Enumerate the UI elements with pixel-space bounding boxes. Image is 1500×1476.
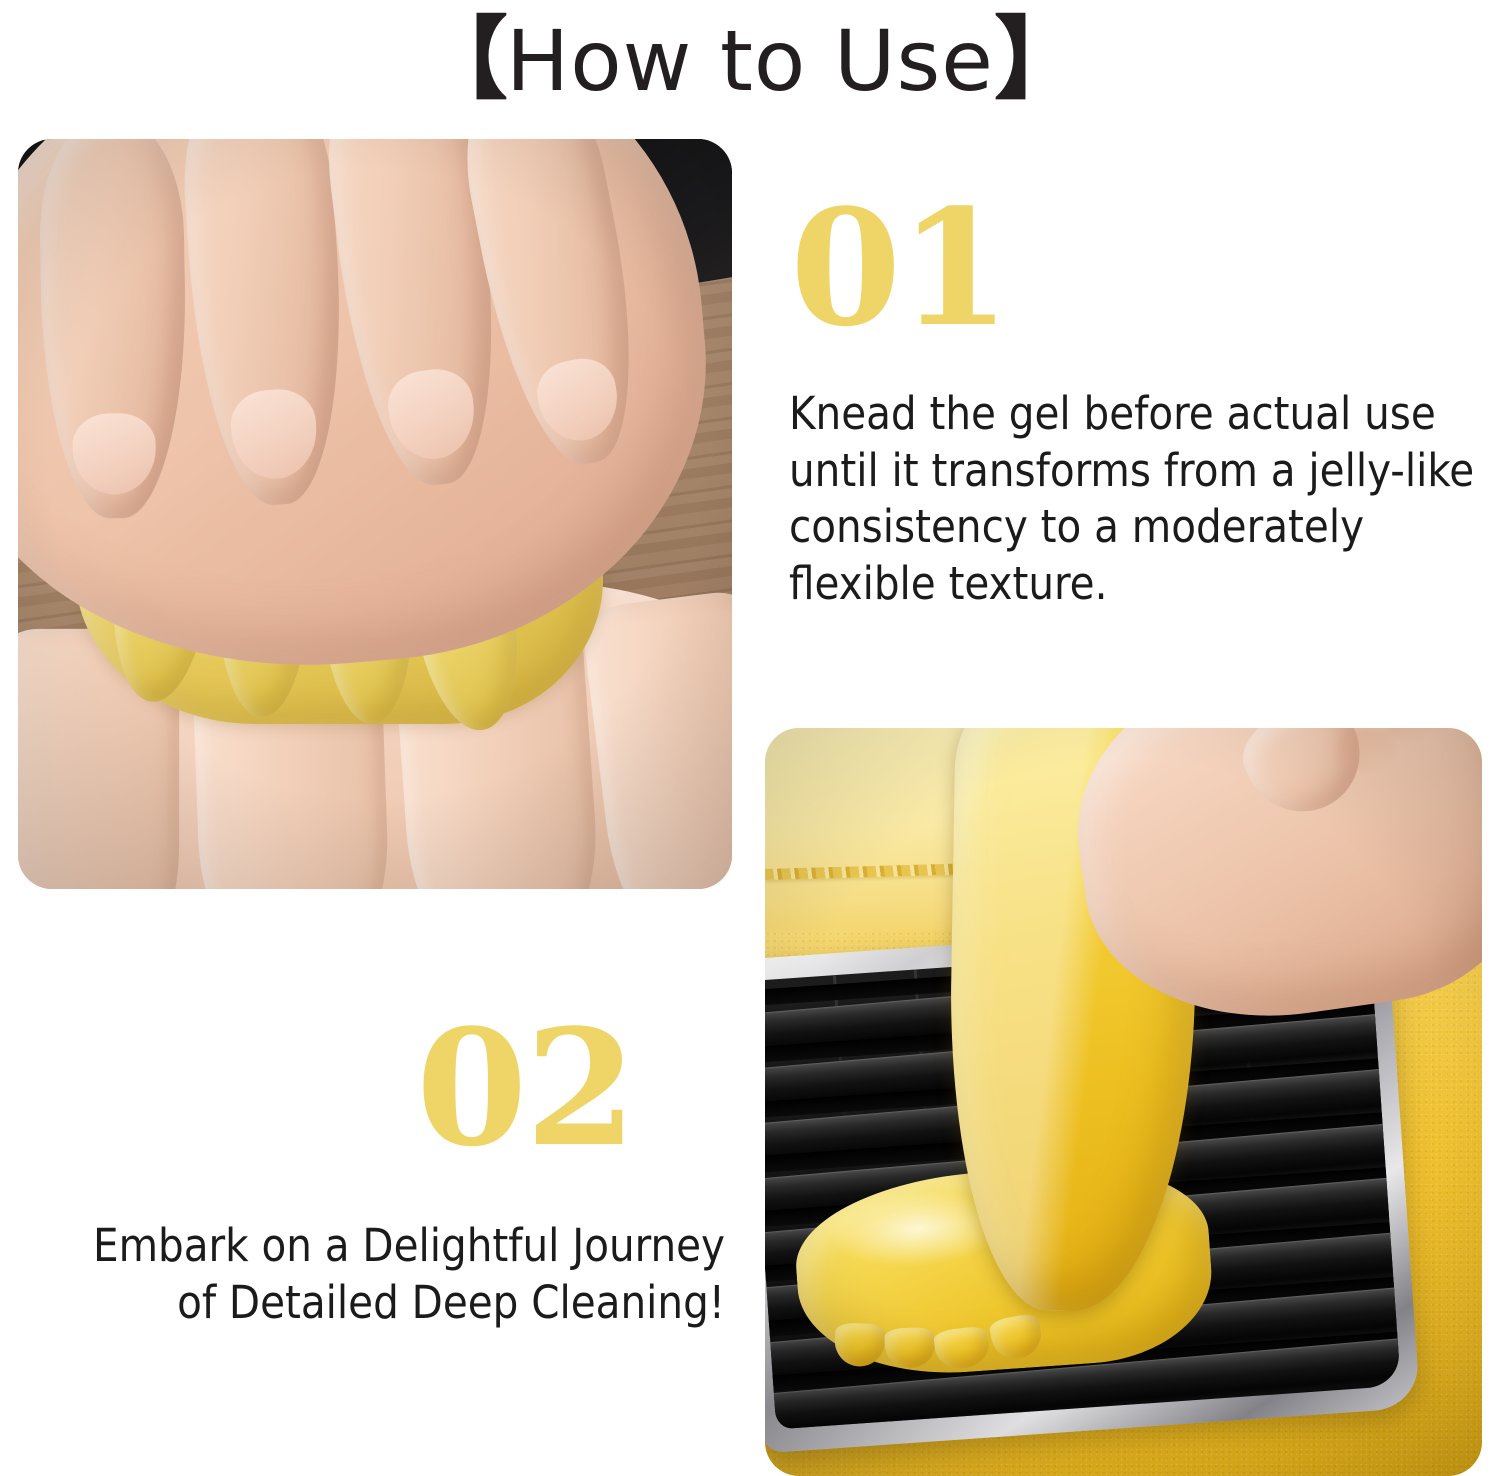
gel-drip-3	[932, 1326, 990, 1372]
photo-2-layers	[765, 728, 1482, 1476]
step-number-02: 02	[416, 1008, 635, 1168]
upper-finger-1	[38, 139, 189, 520]
page-title-text: How to Use	[506, 12, 994, 110]
page-title-container: 【How to Use】	[0, 0, 1500, 120]
page-title: 【How to Use】	[418, 15, 1082, 105]
step-text-01: Knead the gel before actual use until it…	[789, 386, 1479, 613]
fingernail-3	[384, 365, 480, 463]
lower-finger-4	[580, 588, 732, 889]
bracket-close-glyph: 】	[994, 7, 1082, 112]
step-number-01: 01	[790, 188, 1009, 348]
gel-drip-4	[988, 1313, 1045, 1363]
gel-drip-2	[884, 1327, 935, 1368]
fingernail-1	[72, 413, 157, 495]
bracket-open-glyph: 【	[418, 7, 506, 112]
fingernail-2	[228, 387, 320, 481]
photo-hands-kneading-gel	[18, 139, 732, 889]
photo-gel-cleaning-car-vent	[765, 728, 1482, 1476]
photo-1-layers	[18, 139, 732, 889]
fingernail-4	[532, 354, 625, 448]
infographic-page: 【How to Use】	[0, 0, 1500, 1476]
step-text-02: Embark on a Delightful Journey of Detail…	[45, 1218, 725, 1331]
upper-finger-2	[175, 139, 353, 510]
